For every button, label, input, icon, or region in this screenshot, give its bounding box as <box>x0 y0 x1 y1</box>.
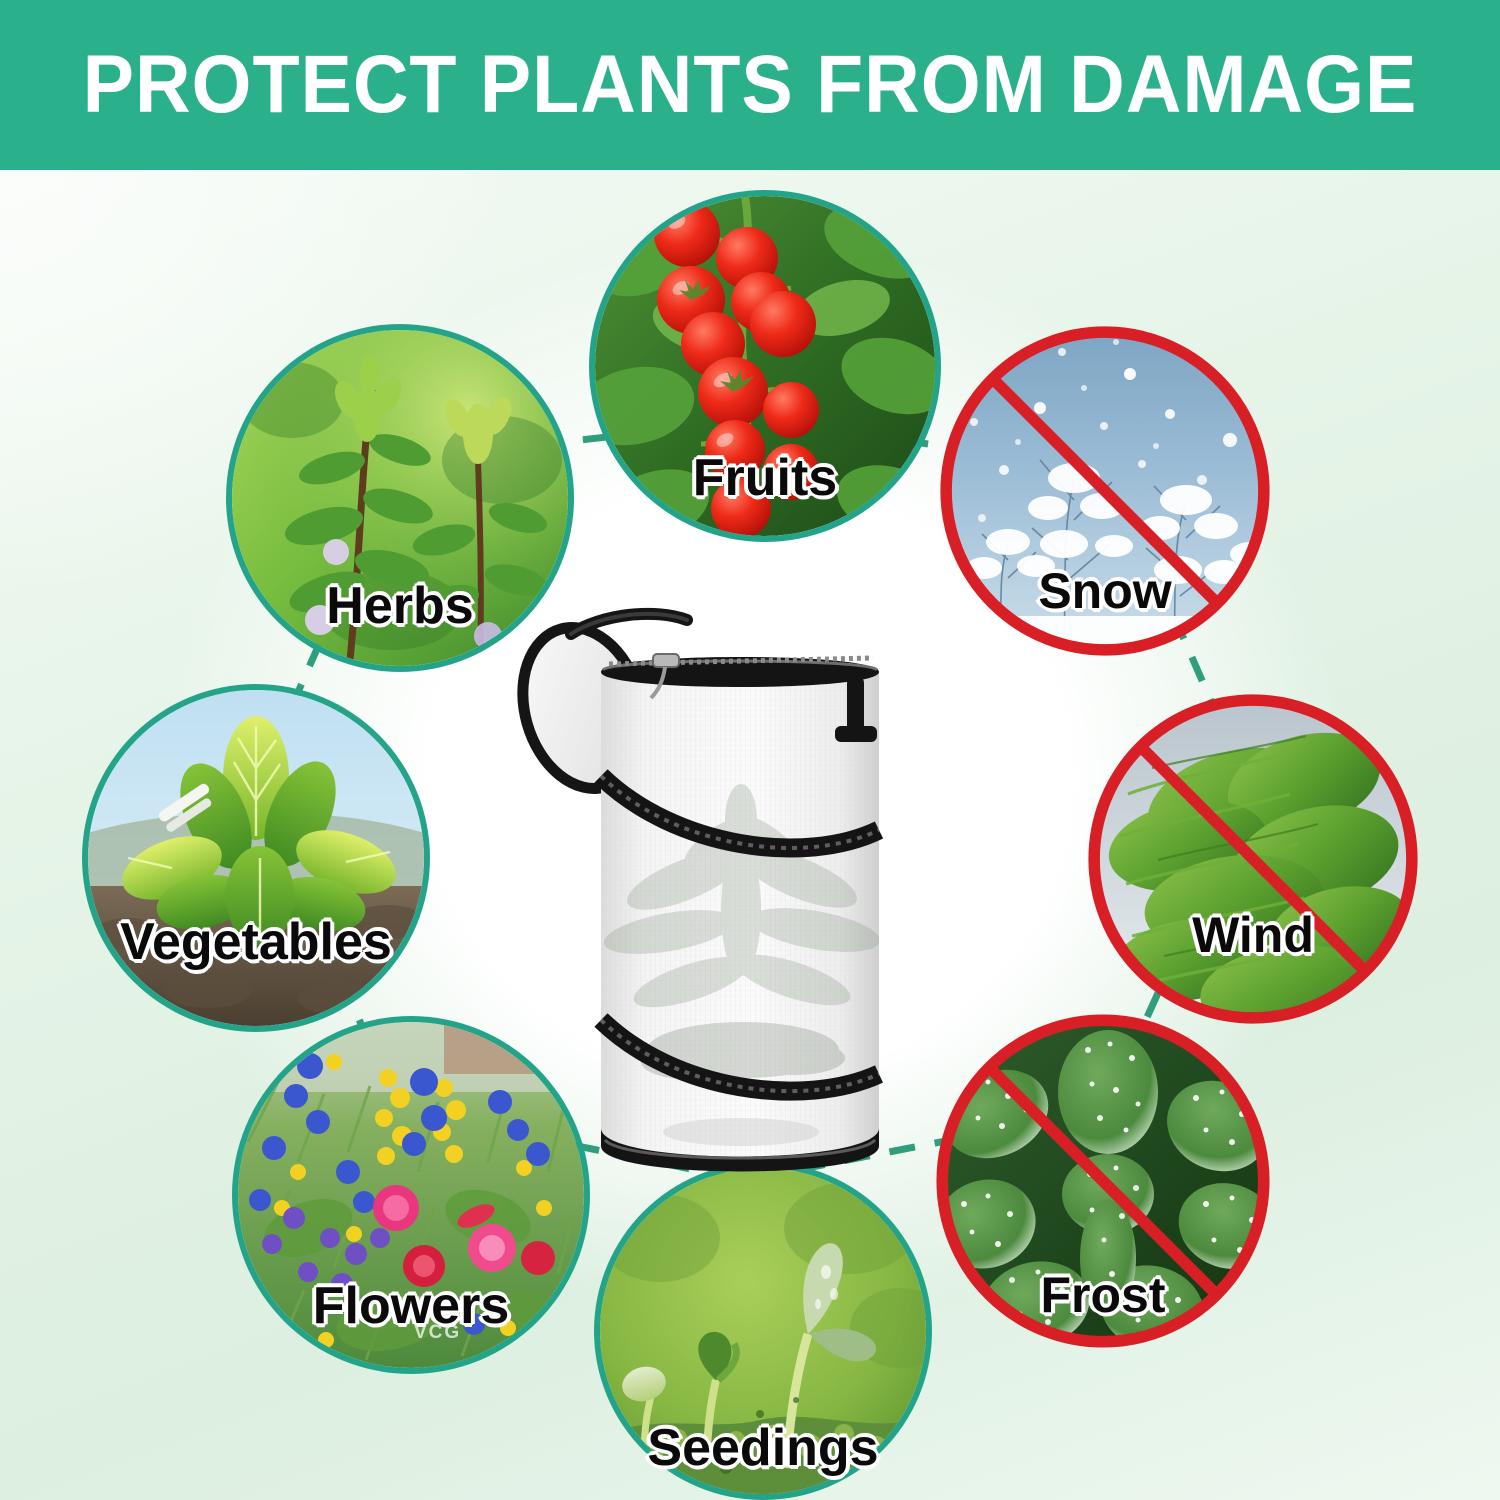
feature-circle-vegetables[interactable]: Vegetables <box>88 690 424 1026</box>
frost-label: Frost <box>1041 1266 1166 1324</box>
header-banner: PROTECT PLANTS FROM DAMAGE <box>0 0 1500 170</box>
page-title: PROTECT PLANTS FROM DAMAGE <box>83 44 1418 126</box>
plant-protector-bag-illustration <box>505 580 975 1220</box>
vegetables-illustration <box>88 690 424 1026</box>
seedings-label: Seedings <box>647 1418 878 1478</box>
feature-circle-frost[interactable]: Frost <box>940 1018 1266 1344</box>
product-infographic: PROTECT PLANTS FROM DAMAGE <box>0 0 1500 1500</box>
wind-image <box>1092 698 1414 1020</box>
wind-label: Wind <box>1192 906 1314 964</box>
flowers-label: Flowers <box>313 1276 510 1336</box>
wind-illustration <box>1092 698 1414 1020</box>
product-image[interactable] <box>505 580 975 1220</box>
feature-circle-wind[interactable]: Wind <box>1092 698 1414 1020</box>
feature-circle-snow[interactable]: Snow <box>944 330 1266 652</box>
vegetables-label: Vegetables <box>120 912 392 972</box>
bag-body <box>601 654 884 1172</box>
herbs-label: Herbs <box>326 576 473 636</box>
feature-circle-fruits[interactable]: Fruits <box>595 196 935 536</box>
vegetables-image <box>88 690 424 1026</box>
fruits-label: Fruits <box>693 448 837 508</box>
snow-label: Snow <box>1038 562 1171 620</box>
